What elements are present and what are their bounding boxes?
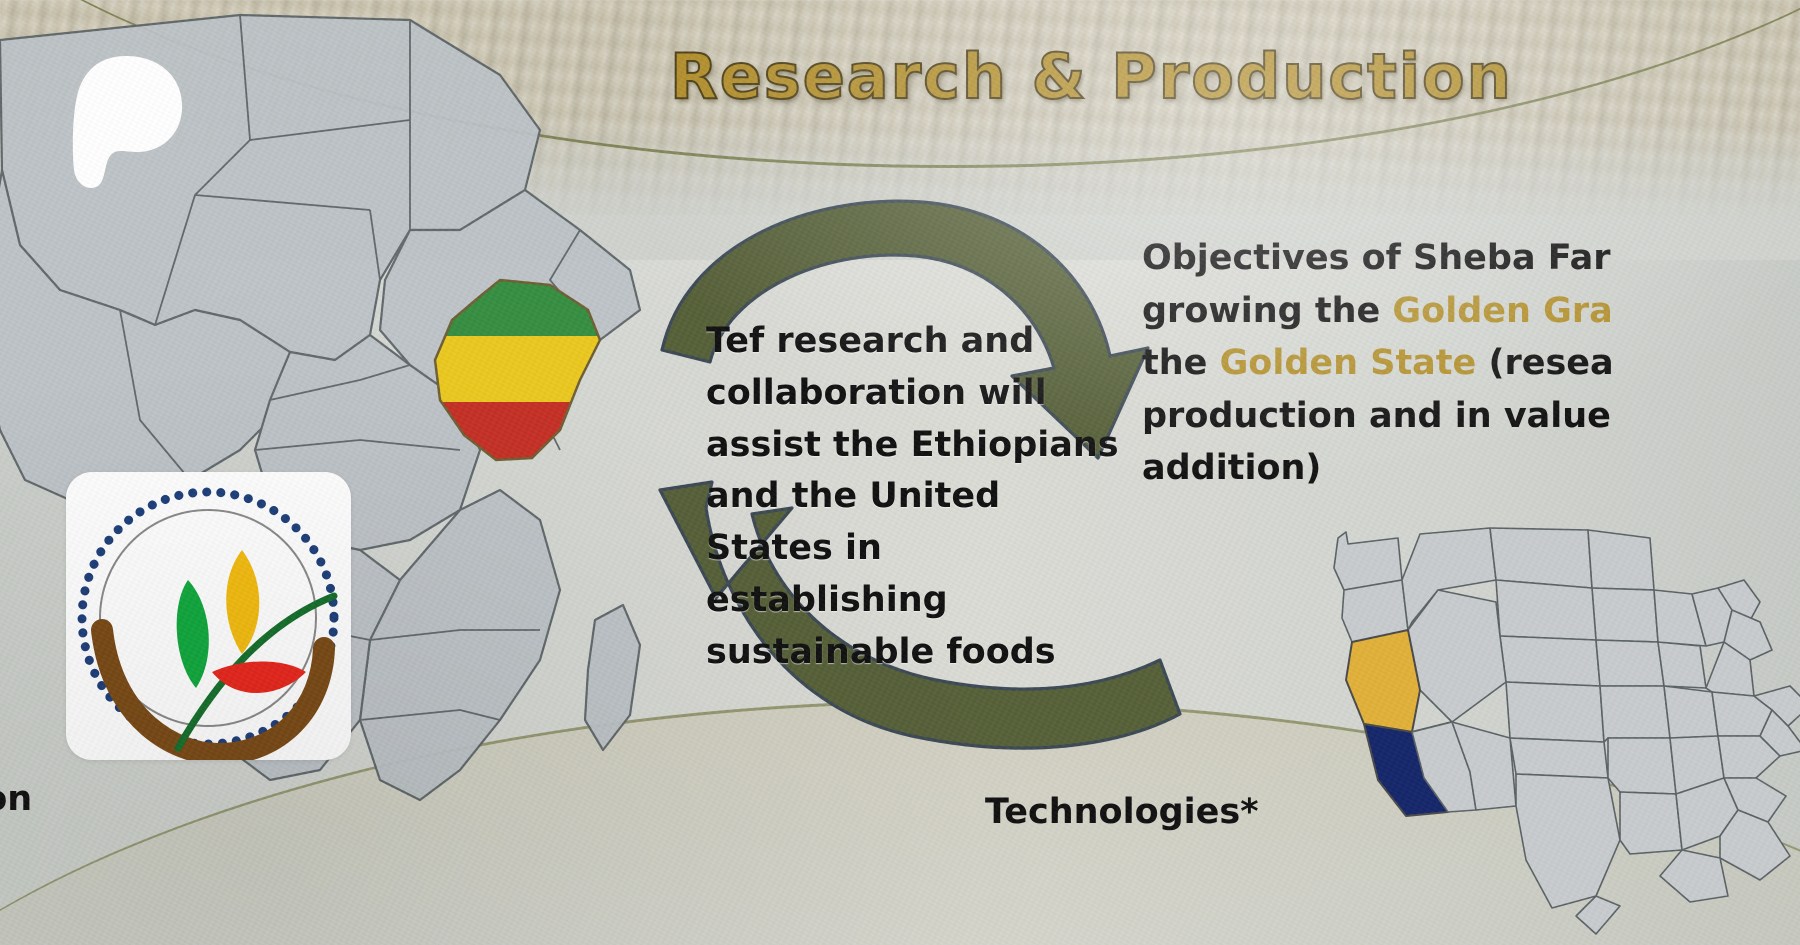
sheba-farms-logo bbox=[66, 472, 351, 760]
objectives-line-1: Objectives of Sheba Far bbox=[1142, 232, 1800, 285]
slide-title: Research & Production bbox=[670, 40, 1513, 113]
objectives-line-4: production and in value bbox=[1142, 390, 1800, 443]
sheba-farms-logo-card bbox=[66, 472, 351, 760]
red-leaf bbox=[212, 661, 306, 693]
objectives-line-3-plain-b: (resea bbox=[1476, 343, 1613, 383]
slide-screenshot: Research & Production Tef research and c… bbox=[0, 0, 1800, 945]
green-leaf bbox=[177, 580, 209, 688]
left-line-6: anization bbox=[0, 773, 180, 825]
patreon-logo-watermark bbox=[68, 52, 188, 192]
yellow-leaf bbox=[226, 550, 259, 654]
objectives-golden-grain: Golden Gra bbox=[1392, 291, 1612, 331]
objectives-line-3: the Golden State (resea bbox=[1142, 337, 1800, 390]
objectives-line-2-plain: growing the bbox=[1142, 291, 1392, 331]
usa-map bbox=[1320, 510, 1800, 940]
objectives-line-2: growing the Golden Gra bbox=[1142, 285, 1800, 338]
objectives-block: Objectives of Sheba Far growing the Gold… bbox=[1142, 232, 1800, 495]
objectives-line-5: addition) bbox=[1142, 442, 1800, 495]
objectives-golden-state: Golden State bbox=[1220, 343, 1477, 383]
tef-statement: Tef research and collaboration will assi… bbox=[706, 316, 1126, 679]
technologies-label: Technologies* bbox=[985, 792, 1259, 832]
objectives-line-3-plain-a: the bbox=[1142, 343, 1220, 383]
